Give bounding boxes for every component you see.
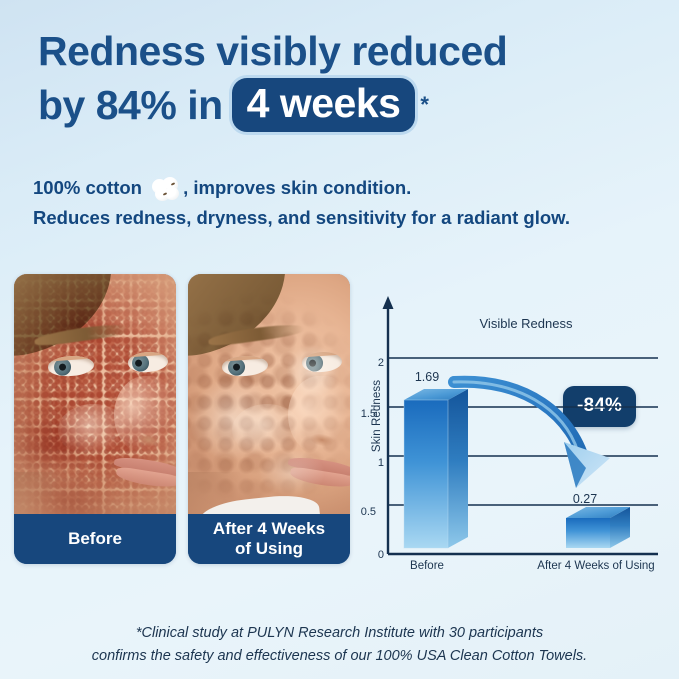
decrease-arrow-icon bbox=[454, 382, 610, 488]
after-photo bbox=[188, 274, 350, 514]
after-photo-label-line-2: of Using bbox=[235, 539, 303, 558]
footer-disclaimer: *Clinical study at PULYN Research Instit… bbox=[0, 622, 679, 668]
chart-canvas bbox=[358, 282, 668, 582]
headline-line-1: Redness visibly reduced bbox=[38, 24, 658, 78]
bar-after bbox=[566, 507, 630, 548]
subheading-line-2: Reduces redness, dryness, and sensitivit… bbox=[33, 203, 663, 233]
after-photo-label: After 4 Weeks of Using bbox=[188, 514, 350, 564]
page-headline: Redness visibly reduced by 84% in4 weeks… bbox=[38, 24, 658, 132]
subheading-line-1: 100% cotton , improves skin condition. bbox=[33, 173, 663, 203]
before-photo-card: Before bbox=[14, 274, 176, 564]
before-photo-label: Before bbox=[14, 514, 176, 564]
before-photo bbox=[14, 274, 176, 514]
bar-before bbox=[404, 387, 468, 548]
headline-line-2-prefix: by 84% in bbox=[38, 78, 223, 132]
cotton-boll-icon bbox=[151, 176, 181, 202]
headline-weeks-badge: 4 weeks bbox=[232, 78, 416, 131]
footer-line-1: *Clinical study at PULYN Research Instit… bbox=[0, 622, 679, 645]
after-photo-label-line-1: After 4 Weeks bbox=[213, 519, 325, 538]
after-photo-card: After 4 Weeks of Using bbox=[188, 274, 350, 564]
subheading: 100% cotton , improves skin condition. R… bbox=[33, 173, 663, 233]
subheading-line-1-text-a: 100% cotton bbox=[33, 177, 142, 198]
footer-line-2: confirms the safety and effectiveness of… bbox=[0, 645, 679, 668]
subheading-line-1-text-b: , improves skin condition. bbox=[183, 177, 411, 198]
redness-bar-chart: Skin Redness Visible Redness 2 1.5 1 0.5… bbox=[358, 282, 668, 582]
headline-line-2: by 84% in4 weeks* bbox=[38, 78, 658, 132]
headline-asterisk: * bbox=[420, 94, 428, 116]
